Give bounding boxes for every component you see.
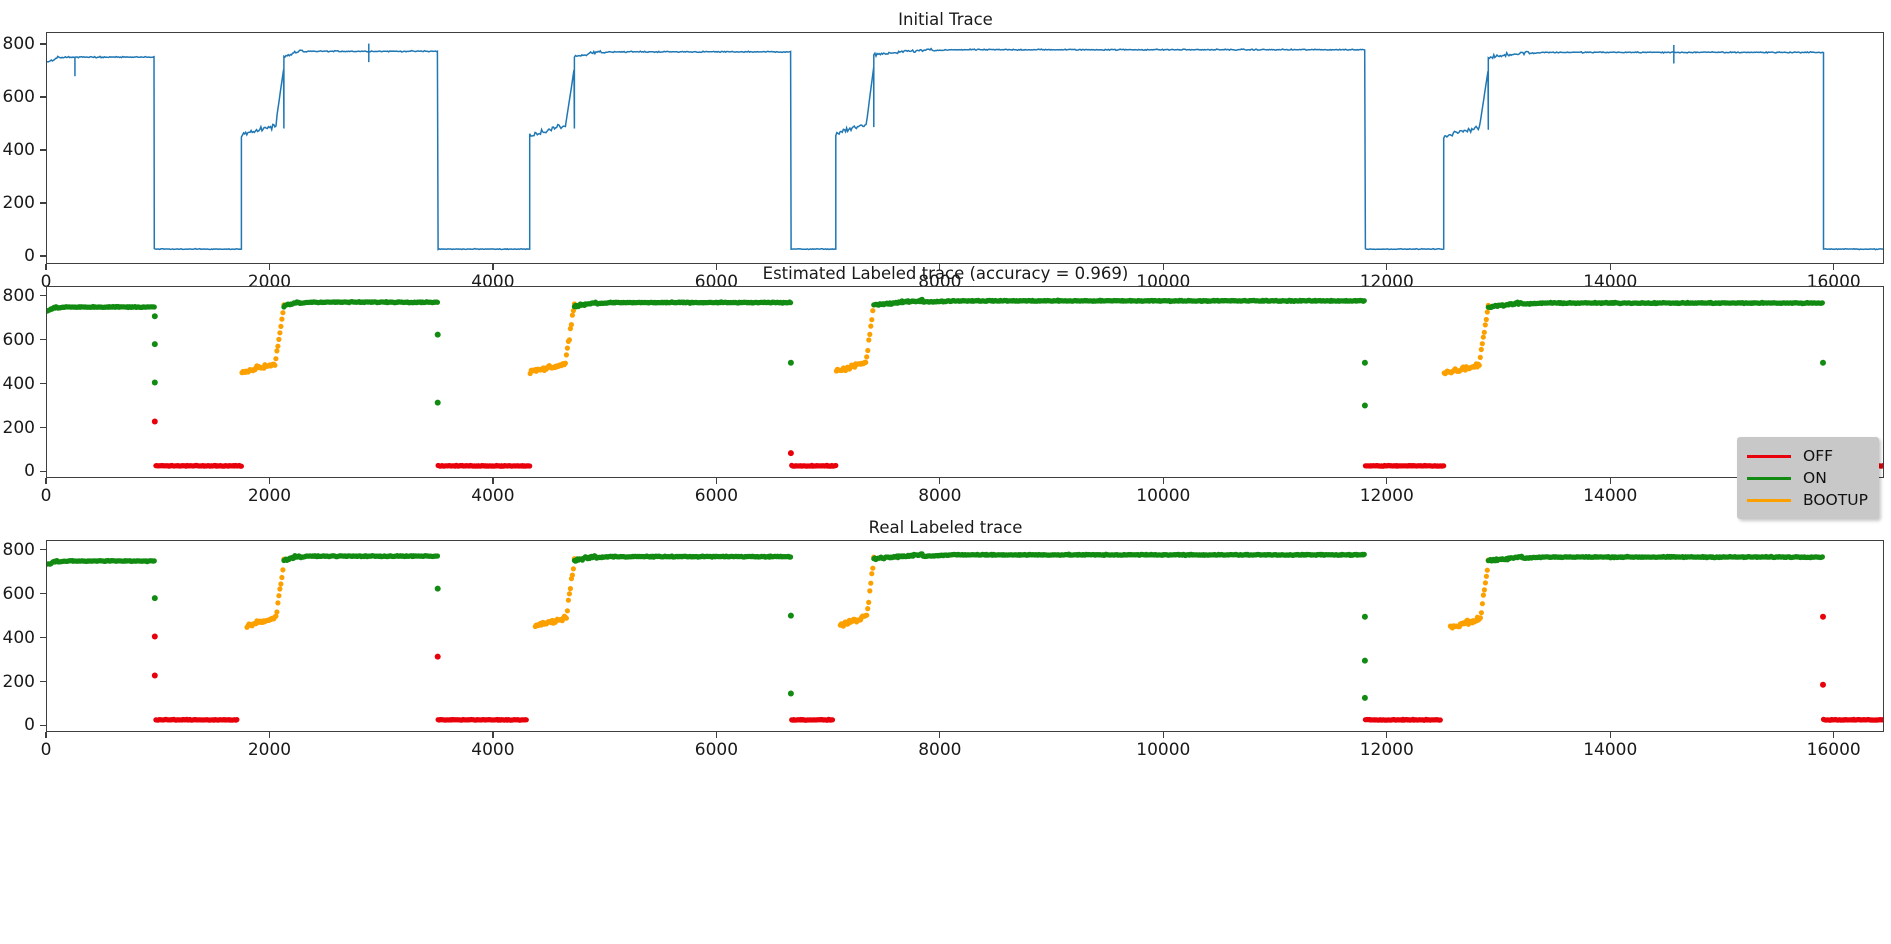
scatter-point xyxy=(788,360,794,366)
scatter-point xyxy=(1485,309,1490,314)
scatter-point xyxy=(566,598,571,603)
scatter-point xyxy=(278,581,283,586)
scatter-point xyxy=(864,613,869,618)
scatter-point xyxy=(1481,593,1486,598)
scatter-point xyxy=(273,356,278,361)
y-tick-mark xyxy=(40,549,46,550)
scatter-point xyxy=(435,332,441,338)
y-tick-mark xyxy=(40,255,46,256)
scatter-point xyxy=(1820,360,1826,366)
scatter-point xyxy=(280,567,285,572)
panel2-title: Estimated Labeled trace (accuracy = 0.96… xyxy=(0,264,1891,283)
scatter-point xyxy=(868,324,873,329)
x-tick-label: 6000 xyxy=(695,740,738,760)
scatter-point xyxy=(279,575,284,580)
x-tick-mark xyxy=(716,478,717,484)
scatter-point xyxy=(152,595,158,601)
x-tick-label: 4000 xyxy=(471,740,514,760)
scatter-point xyxy=(830,717,835,722)
scatter-point xyxy=(788,691,794,697)
x-tick-mark xyxy=(1610,478,1611,484)
scatter-point xyxy=(272,363,277,368)
y-tick-mark xyxy=(40,295,46,296)
scatter-point xyxy=(280,310,285,315)
legend[interactable]: OFF ON BOOTUP xyxy=(1737,437,1879,519)
scatter-point xyxy=(1820,554,1825,559)
scatter-point xyxy=(564,616,569,621)
scatter-point xyxy=(863,360,868,365)
scatter-point xyxy=(1820,682,1826,688)
scatter-point xyxy=(277,586,282,591)
legend-label-bootup: BOOTUP xyxy=(1803,489,1868,511)
scatter-point xyxy=(435,300,440,305)
scatter-point xyxy=(1362,695,1368,701)
x-tick-label: 16000 xyxy=(1807,740,1861,760)
scatter-point xyxy=(276,337,281,342)
scatter-point xyxy=(277,330,282,335)
scatter-point xyxy=(152,341,158,347)
scatter-point xyxy=(1483,322,1488,327)
x-tick-label: 0 xyxy=(41,486,52,506)
x-tick-label: 10000 xyxy=(1136,486,1190,506)
x-tick-mark xyxy=(1163,478,1164,484)
x-tick-label: 14000 xyxy=(1583,740,1637,760)
scatter-point xyxy=(152,313,158,319)
y-tick-mark xyxy=(40,725,46,726)
y-tick-label: 600 xyxy=(0,330,35,350)
scatter-point xyxy=(152,673,158,679)
scatter-point xyxy=(1479,610,1484,615)
scatter-point xyxy=(435,553,440,558)
scatter-point xyxy=(274,609,279,614)
scatter-point xyxy=(152,380,158,386)
scatter-point xyxy=(1482,587,1487,592)
scatter-point xyxy=(1477,363,1482,368)
legend-item-off[interactable]: OFF xyxy=(1747,445,1868,467)
panel1-axes xyxy=(46,32,1884,264)
scatter-point xyxy=(1484,317,1489,322)
scatter-point xyxy=(865,606,870,611)
x-tick-label: 10000 xyxy=(1136,740,1190,760)
y-tick-label: 200 xyxy=(0,418,35,438)
legend-swatch-off xyxy=(1747,455,1791,458)
scatter-point xyxy=(1481,335,1486,340)
scatter-point xyxy=(279,317,284,322)
trace-path xyxy=(47,49,1884,250)
scatter-point xyxy=(563,361,568,366)
y-tick-label: 800 xyxy=(0,286,35,306)
scatter-point xyxy=(865,348,870,353)
y-tick-label: 600 xyxy=(0,584,35,604)
y-tick-label: 800 xyxy=(0,540,35,560)
x-tick-mark xyxy=(1163,732,1164,738)
scatter-point xyxy=(1362,298,1367,303)
scatter-point xyxy=(564,352,569,357)
scatter-point xyxy=(1479,347,1484,352)
scatter-point xyxy=(435,586,441,592)
scatter-point xyxy=(864,354,869,359)
x-tick-label: 4000 xyxy=(471,486,514,506)
scatter-point xyxy=(570,313,575,318)
scatter-point xyxy=(866,337,871,342)
x-tick-label: 2000 xyxy=(248,486,291,506)
scatter-point xyxy=(866,600,871,605)
scatter-point xyxy=(567,337,572,342)
x-tick-label: 2000 xyxy=(248,740,291,760)
legend-label-off: OFF xyxy=(1803,445,1833,467)
scatter-point xyxy=(570,573,575,578)
scatter-point xyxy=(567,591,572,596)
y-tick-label: 200 xyxy=(0,672,35,692)
panel1-title: Initial Trace xyxy=(0,10,1891,29)
x-tick-label: 14000 xyxy=(1583,486,1637,506)
y-tick-mark xyxy=(40,427,46,428)
y-tick-mark xyxy=(40,593,46,594)
y-tick-label: 200 xyxy=(0,193,35,213)
scatter-point xyxy=(788,613,794,619)
scatter-point xyxy=(1362,360,1368,366)
scatter-point xyxy=(239,464,244,469)
y-tick-label: 400 xyxy=(0,374,35,394)
scatter-point xyxy=(152,304,157,309)
x-tick-mark xyxy=(1386,732,1387,738)
scatter-point xyxy=(152,558,157,563)
y-tick-label: 800 xyxy=(0,34,35,54)
x-tick-mark xyxy=(1386,478,1387,484)
scatter-point xyxy=(568,586,573,591)
scatter-point xyxy=(527,463,532,468)
labeled-scatter xyxy=(47,541,1884,732)
scatter-point xyxy=(524,717,529,722)
scatter-point xyxy=(867,588,872,593)
x-tick-label: 8000 xyxy=(918,486,961,506)
y-tick-label: 400 xyxy=(0,140,35,160)
y-tick-mark xyxy=(40,383,46,384)
scatter-point xyxy=(435,400,441,406)
x-tick-mark xyxy=(939,732,940,738)
scatter-point xyxy=(870,566,875,571)
scatter-point xyxy=(1485,568,1490,573)
panel3-axes xyxy=(46,540,1884,732)
x-tick-label: 12000 xyxy=(1360,740,1414,760)
y-tick-label: 0 xyxy=(0,461,35,481)
x-tick-mark xyxy=(269,478,270,484)
scatter-point xyxy=(274,348,279,353)
y-tick-mark xyxy=(40,339,46,340)
scatter-point xyxy=(152,419,158,425)
panel3-title: Real Labeled trace xyxy=(0,518,1891,537)
x-tick-mark xyxy=(269,732,270,738)
x-tick-label: 6000 xyxy=(695,486,738,506)
scatter-point xyxy=(788,300,793,305)
y-tick-mark xyxy=(40,202,46,203)
scatter-point xyxy=(278,324,283,329)
scatter-point xyxy=(152,634,158,640)
scatter-point xyxy=(1480,341,1485,346)
x-tick-mark xyxy=(1610,732,1611,738)
x-tick-label: 0 xyxy=(41,740,52,760)
scatter-point xyxy=(1362,403,1368,409)
scatter-point xyxy=(867,332,872,337)
scatter-point xyxy=(276,593,281,598)
scatter-point xyxy=(870,308,875,313)
legend-item-on[interactable]: ON xyxy=(1747,467,1868,489)
x-tick-label: 12000 xyxy=(1360,486,1414,506)
legend-swatch-bootup xyxy=(1747,499,1791,502)
trace-line xyxy=(47,33,1884,264)
scatter-point xyxy=(1362,614,1368,620)
y-tick-mark xyxy=(40,149,46,150)
y-tick-mark xyxy=(40,681,46,682)
y-tick-mark xyxy=(40,637,46,638)
x-tick-label: 8000 xyxy=(918,740,961,760)
x-tick-mark xyxy=(492,478,493,484)
scatter-point xyxy=(275,600,280,605)
x-tick-mark xyxy=(45,478,46,484)
scatter-point xyxy=(788,450,794,456)
legend-label-on: ON xyxy=(1803,467,1827,489)
x-tick-mark xyxy=(1833,732,1834,738)
y-tick-mark xyxy=(40,96,46,97)
scatter-point xyxy=(1362,658,1368,664)
scatter-point xyxy=(1438,717,1443,722)
scatter-point xyxy=(868,581,873,586)
y-tick-mark xyxy=(40,43,46,44)
scatter-point xyxy=(565,608,570,613)
scatter-point xyxy=(275,344,280,349)
scatter-point xyxy=(1482,330,1487,335)
labeled-scatter xyxy=(47,287,1884,478)
scatter-point xyxy=(869,571,874,576)
scatter-point xyxy=(569,322,574,327)
scatter-point xyxy=(869,317,874,322)
matplotlib-figure: Initial Trace 02004006008000200040006000… xyxy=(0,0,1891,944)
scatter-point xyxy=(1480,601,1485,606)
legend-swatch-on xyxy=(1747,477,1791,480)
y-tick-label: 0 xyxy=(0,715,35,735)
scatter-point xyxy=(833,463,838,468)
scatter-point xyxy=(1820,300,1825,305)
y-tick-mark xyxy=(40,471,46,472)
x-tick-mark xyxy=(939,478,940,484)
legend-item-bootup[interactable]: BOOTUP xyxy=(1747,489,1868,511)
scatter-point xyxy=(1441,463,1446,468)
scatter-point xyxy=(1820,614,1826,620)
x-tick-mark xyxy=(492,732,493,738)
y-tick-label: 600 xyxy=(0,87,35,107)
scatter-point xyxy=(571,566,576,571)
scatter-point xyxy=(435,654,441,660)
y-tick-label: 400 xyxy=(0,628,35,648)
scatter-point xyxy=(234,717,239,722)
scatter-point xyxy=(1484,574,1489,579)
panel2-axes xyxy=(46,286,1884,478)
x-tick-mark xyxy=(45,732,46,738)
scatter-point xyxy=(1362,552,1367,557)
scatter-point xyxy=(1478,615,1483,620)
scatter-point xyxy=(565,346,570,351)
scatter-point xyxy=(1483,580,1488,585)
scatter-point xyxy=(1478,355,1483,360)
x-tick-mark xyxy=(716,732,717,738)
scatter-point xyxy=(788,554,793,559)
